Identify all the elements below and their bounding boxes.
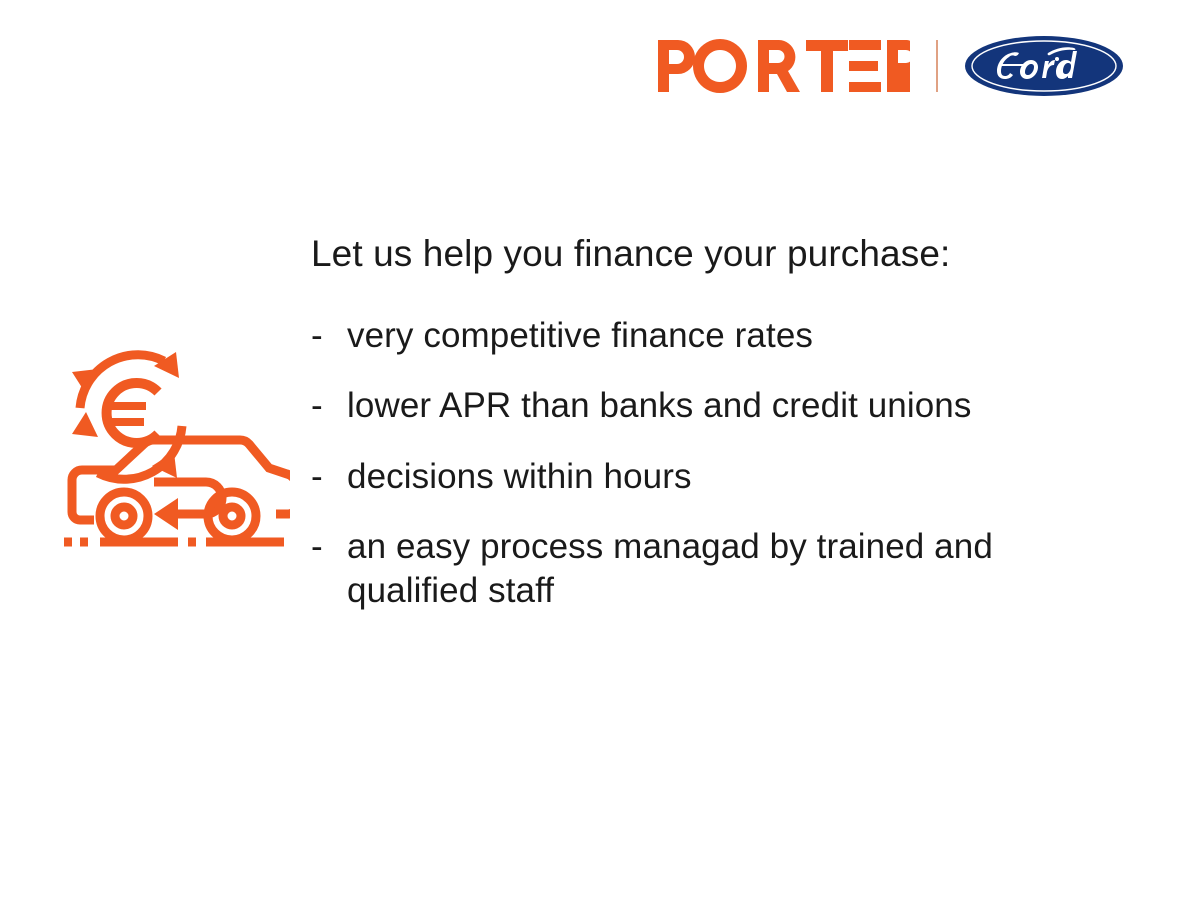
bullet-marker: -	[311, 314, 347, 358]
list-item-label: lower APR than banks and credit unions	[347, 384, 1067, 428]
finance-text-block: Let us help you finance your purchase: -…	[311, 232, 1111, 614]
ford-logo	[938, 33, 1124, 99]
list-item: - an easy process managad by trained and…	[311, 525, 1111, 614]
finance-benefits-list: - very competitive finance rates - lower…	[311, 314, 1111, 614]
car-finance-euro-icon	[58, 330, 290, 562]
list-item: - very competitive finance rates	[311, 314, 1111, 358]
list-item-label: an easy process managad by trained and q…	[347, 525, 1067, 614]
bullet-marker: -	[311, 525, 347, 569]
slide-root: Let us help you finance your purchase: -…	[0, 0, 1200, 900]
list-item: - lower APR than banks and credit unions	[311, 384, 1111, 428]
list-item-label: decisions within hours	[347, 455, 1067, 499]
page-title: Let us help you finance your purchase:	[311, 232, 1111, 276]
list-item: - decisions within hours	[311, 455, 1111, 499]
porter-logo	[658, 33, 936, 99]
bullet-marker: -	[311, 384, 347, 428]
brand-bar	[658, 33, 1124, 99]
list-item-label: very competitive finance rates	[347, 314, 1067, 358]
bullet-marker: -	[311, 455, 347, 499]
